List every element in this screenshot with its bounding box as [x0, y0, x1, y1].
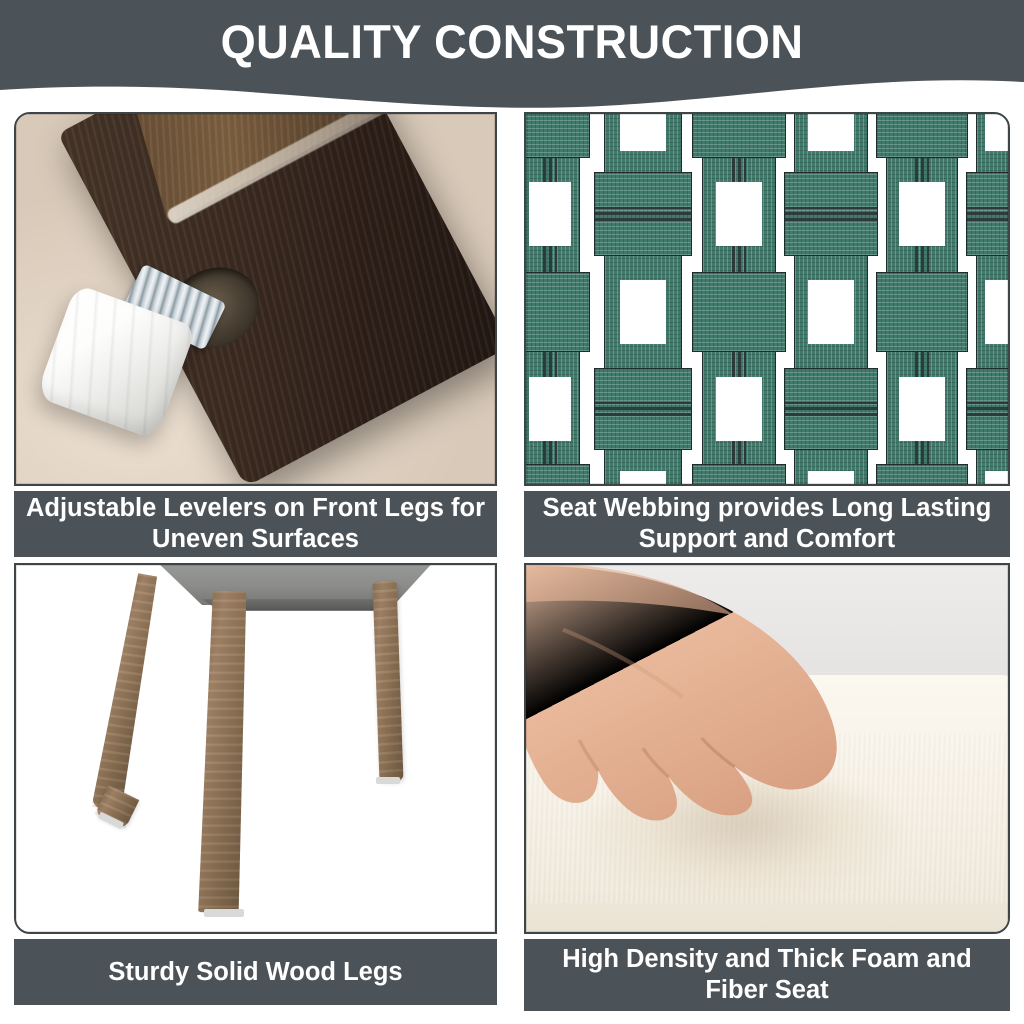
webbing-strap-horizontal [876, 272, 968, 352]
panel-webbing: Seat Webbing provides Long Lasting Suppo… [524, 112, 1010, 557]
wood-legs-scene [16, 565, 495, 932]
webbing-strap-horizontal [784, 368, 878, 450]
webbing-strap-horizontal [526, 114, 590, 158]
wood-leg-right [373, 581, 404, 782]
caption-wood-legs: Sturdy Solid Wood Legs [14, 939, 497, 1005]
foam-image [524, 563, 1010, 934]
webbing-stripe-band [595, 205, 691, 223]
levelers-image [14, 112, 497, 486]
webbing-strap-horizontal [692, 464, 786, 484]
webbing-gap [620, 471, 666, 484]
panel-levelers: Adjustable Levelers on Front Legs for Un… [14, 112, 497, 557]
webbing-gap [716, 377, 762, 441]
webbing-strap-horizontal [594, 368, 692, 450]
webbing-gap [716, 182, 762, 246]
webbing-strap-horizontal [692, 114, 786, 158]
webbing-strap-horizontal [876, 114, 968, 158]
webbing-gap [620, 114, 666, 151]
wood-grain-texture-right [373, 581, 404, 782]
leveler-scene [16, 114, 495, 484]
webbing-strap-horizontal [526, 272, 590, 352]
wood-leg-center [196, 590, 251, 913]
webbing-strap-horizontal [526, 464, 590, 484]
webbing-stripe-band [595, 400, 691, 418]
webbing-gap [985, 114, 1008, 151]
caption-webbing: Seat Webbing provides Long Lasting Suppo… [524, 491, 1010, 557]
webbing-strap-horizontal [784, 172, 878, 256]
webbing-gap [985, 471, 1008, 484]
caption-foam: High Density and Thick Foam and Fiber Se… [524, 939, 1010, 1011]
webbing-gap [808, 114, 854, 151]
header-banner: QUALITY CONSTRUCTION [0, 0, 1024, 112]
webbing-gap [529, 377, 571, 441]
webbing-strap-horizontal [692, 272, 786, 352]
webbing-strap-horizontal [966, 172, 1008, 256]
webbing-gap [899, 377, 945, 441]
leg-foot-right [376, 777, 400, 784]
webbing-image [524, 112, 1010, 486]
page-title: QUALITY CONSTRUCTION [20, 14, 1003, 70]
webbing-weave-scene [526, 114, 1008, 484]
webbing-strap-horizontal [966, 368, 1008, 450]
webbing-gap [985, 280, 1008, 344]
hand-icon [526, 565, 892, 895]
webbing-stripe-band [967, 205, 1008, 223]
foam-scene [526, 565, 1008, 932]
webbing-strap-horizontal [594, 172, 692, 256]
webbing-stripe-band [967, 400, 1008, 418]
wood-leg-left [92, 572, 163, 812]
webbing-gap [808, 471, 854, 484]
webbing-stripe-band [785, 400, 877, 418]
webbing-gap [529, 182, 571, 246]
webbing-gap [808, 280, 854, 344]
webbing-strap-horizontal [876, 464, 968, 484]
webbing-gap [620, 280, 666, 344]
wood-grain-texture-center [196, 590, 251, 913]
webbing-stripe-band [785, 205, 877, 223]
panel-wood-legs: Sturdy Solid Wood Legs [14, 563, 497, 1005]
wood-grain-texture-left [92, 572, 163, 812]
caption-levelers: Adjustable Levelers on Front Legs for Un… [14, 491, 497, 557]
leg-foot-center [204, 909, 244, 917]
panel-foam: High Density and Thick Foam and Fiber Se… [524, 563, 1010, 1011]
webbing-gap [899, 182, 945, 246]
wood-legs-image [14, 563, 497, 934]
